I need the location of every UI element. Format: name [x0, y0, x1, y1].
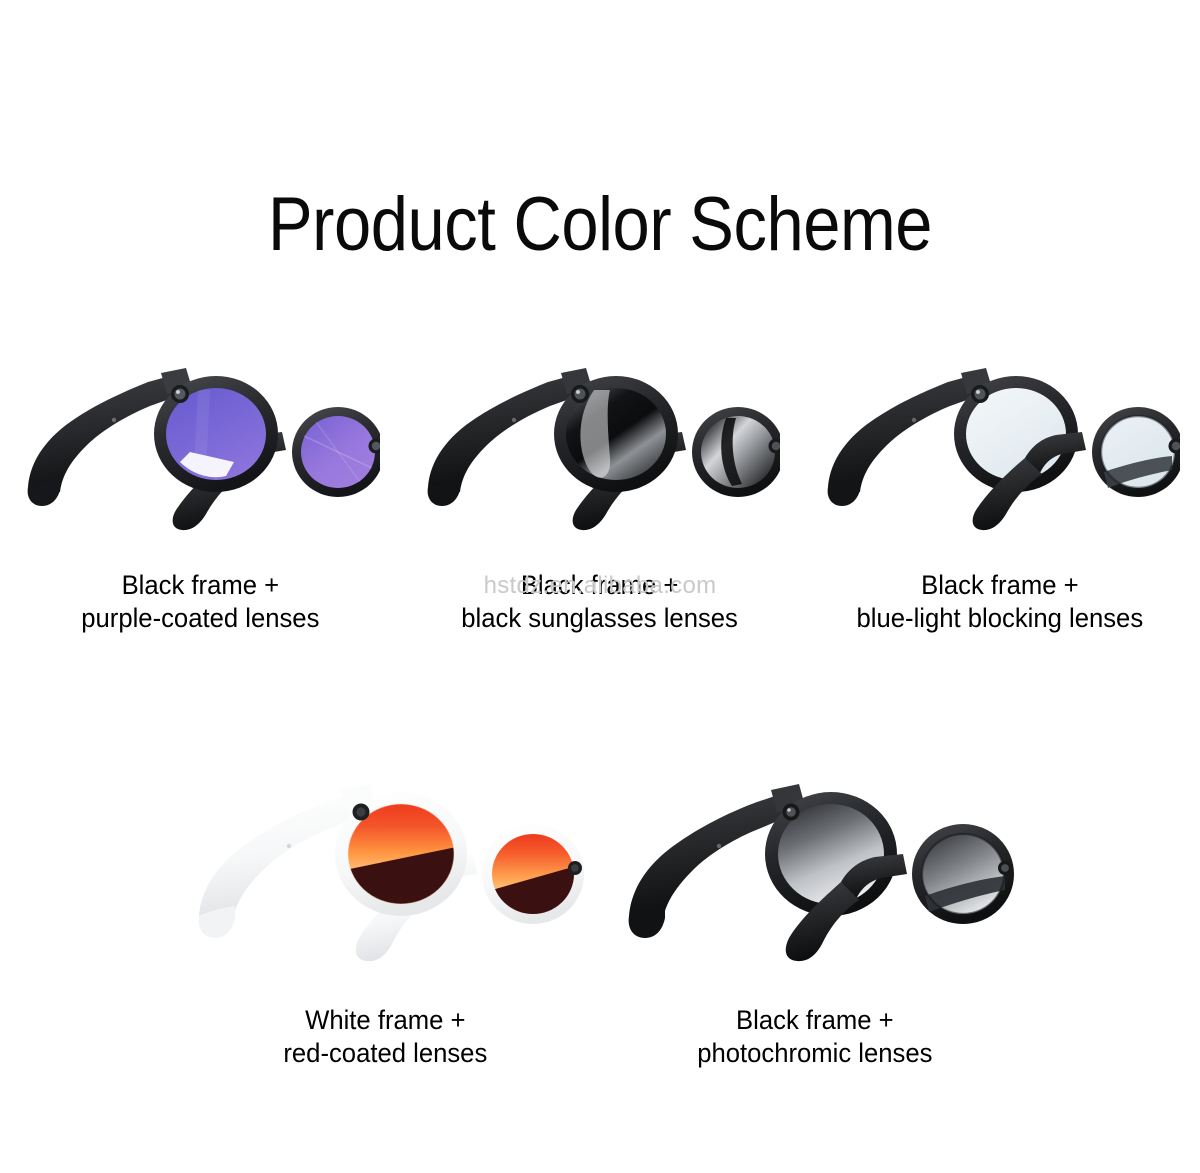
caption-line-1: Black frame +	[697, 1004, 932, 1037]
caption-line-1: Black frame +	[857, 569, 1144, 602]
product-card-red-coated[interactable]: White frame + red-coated lenses	[170, 750, 600, 1070]
product-caption-purple-coated: Black frame + purple-coated lenses	[81, 569, 319, 635]
product-card-photochromic[interactable]: Black frame + photochromic lenses	[600, 750, 1030, 1070]
page-title: Product Color Scheme	[72, 179, 1128, 271]
product-caption-black-sunglasses: Black frame + black sunglasses lenses	[462, 569, 739, 635]
glasses-body-black-sun	[428, 368, 780, 530]
caption-line-1: White frame +	[283, 1004, 487, 1037]
product-card-purple-coated[interactable]: Black frame + purple-coated lenses	[0, 340, 400, 635]
glasses-image-photochromic	[615, 750, 1015, 990]
product-row-bottom: White frame + red-coated lenses	[0, 750, 1200, 1070]
caption-line-1: Black frame +	[81, 569, 319, 602]
caption-line-1: Black frame +	[462, 569, 739, 602]
glasses-body-purple	[28, 368, 380, 530]
caption-line-2: red-coated lenses	[283, 1037, 487, 1070]
product-caption-photochromic: Black frame + photochromic lenses	[697, 1004, 932, 1070]
caption-line-2: black sunglasses lenses	[462, 602, 739, 635]
product-color-scheme-page: Product Color Scheme	[0, 0, 1200, 1173]
glasses-image-black-sunglasses	[420, 340, 780, 555]
product-caption-blue-light-blocking: Black frame + blue-light blocking lenses	[857, 569, 1144, 635]
glasses-body-blue-light	[828, 368, 1180, 530]
product-caption-red-coated: White frame + red-coated lenses	[283, 1004, 487, 1070]
glasses-image-purple-coated	[20, 340, 380, 555]
glasses-body-red	[199, 784, 584, 961]
product-row-top: Black frame + purple-coated lenses	[0, 340, 1200, 635]
product-card-black-sunglasses[interactable]: Black frame + black sunglasses lenses	[400, 340, 800, 635]
caption-line-2: blue-light blocking lenses	[857, 602, 1144, 635]
glasses-image-red-coated	[185, 750, 585, 990]
caption-line-2: purple-coated lenses	[81, 602, 319, 635]
product-card-blue-light-blocking[interactable]: Black frame + blue-light blocking lenses	[800, 340, 1200, 635]
caption-line-2: photochromic lenses	[697, 1037, 932, 1070]
glasses-image-blue-light-blocking	[820, 340, 1180, 555]
glasses-body-photochromic	[629, 784, 1014, 961]
